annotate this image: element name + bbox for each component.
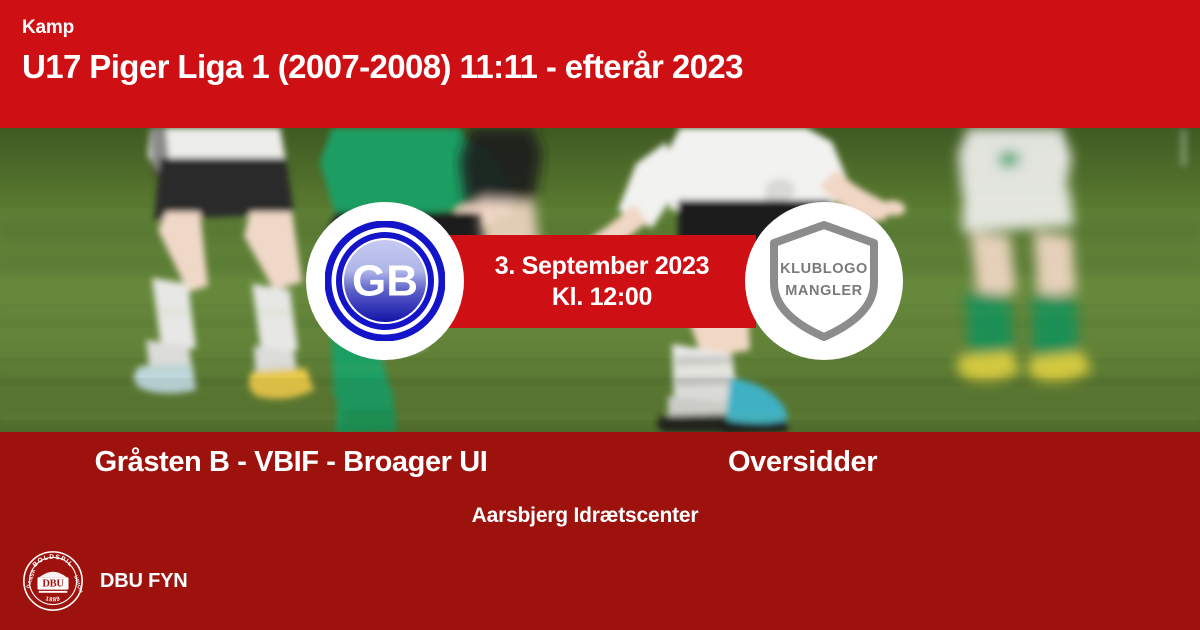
dbu-seal-icon: BOLDSPIL 1889 DANSK UNION DBU	[22, 550, 84, 612]
match-date: 3. September 2023	[495, 251, 709, 282]
away-club-badge[interactable]: KLUBLOGO MANGLER	[745, 202, 903, 360]
club-crest-gb-icon: GB	[325, 221, 445, 341]
teams-row: Gråsten B - VBIF - Broager UI Oversidder	[0, 446, 1200, 479]
club-initials-text: GB	[352, 257, 418, 306]
match-time: Kl. 12:00	[552, 282, 652, 313]
missing-logo-line2: MANGLER	[785, 283, 863, 299]
match-datetime-band: 3. September 2023 Kl. 12:00	[448, 235, 756, 328]
organization-row: BOLDSPIL 1889 DANSK UNION DBU DBU FYN	[22, 550, 188, 612]
away-team-name: Oversidder	[600, 446, 1200, 479]
svg-text:DBU: DBU	[42, 579, 64, 590]
page-title: U17 Piger Liga 1 (2007-2008) 11:11 - eft…	[22, 48, 1200, 86]
venue-name: Aarsbjerg Idrætscenter	[0, 504, 1200, 528]
missing-club-logo-shield-icon: KLUBLOGO MANGLER	[766, 219, 882, 343]
organization-label: DBU FYN	[100, 570, 188, 593]
header-kicker: Kamp	[22, 18, 1200, 39]
home-team-name: Gråsten B - VBIF - Broager UI	[0, 446, 600, 479]
missing-logo-line1: KLUBLOGO	[780, 261, 868, 277]
poster-header: Kamp U17 Piger Liga 1 (2007-2008) 11:11 …	[0, 0, 1200, 128]
home-club-badge[interactable]: GB	[306, 202, 464, 360]
svg-text:1889: 1889	[45, 596, 62, 603]
poster-footer: Gråsten B - VBIF - Broager UI Oversidder…	[0, 432, 1200, 630]
match-poster: Kamp U17 Piger Liga 1 (2007-2008) 11:11 …	[0, 0, 1200, 630]
svg-text:DANSK: DANSK	[26, 568, 38, 589]
